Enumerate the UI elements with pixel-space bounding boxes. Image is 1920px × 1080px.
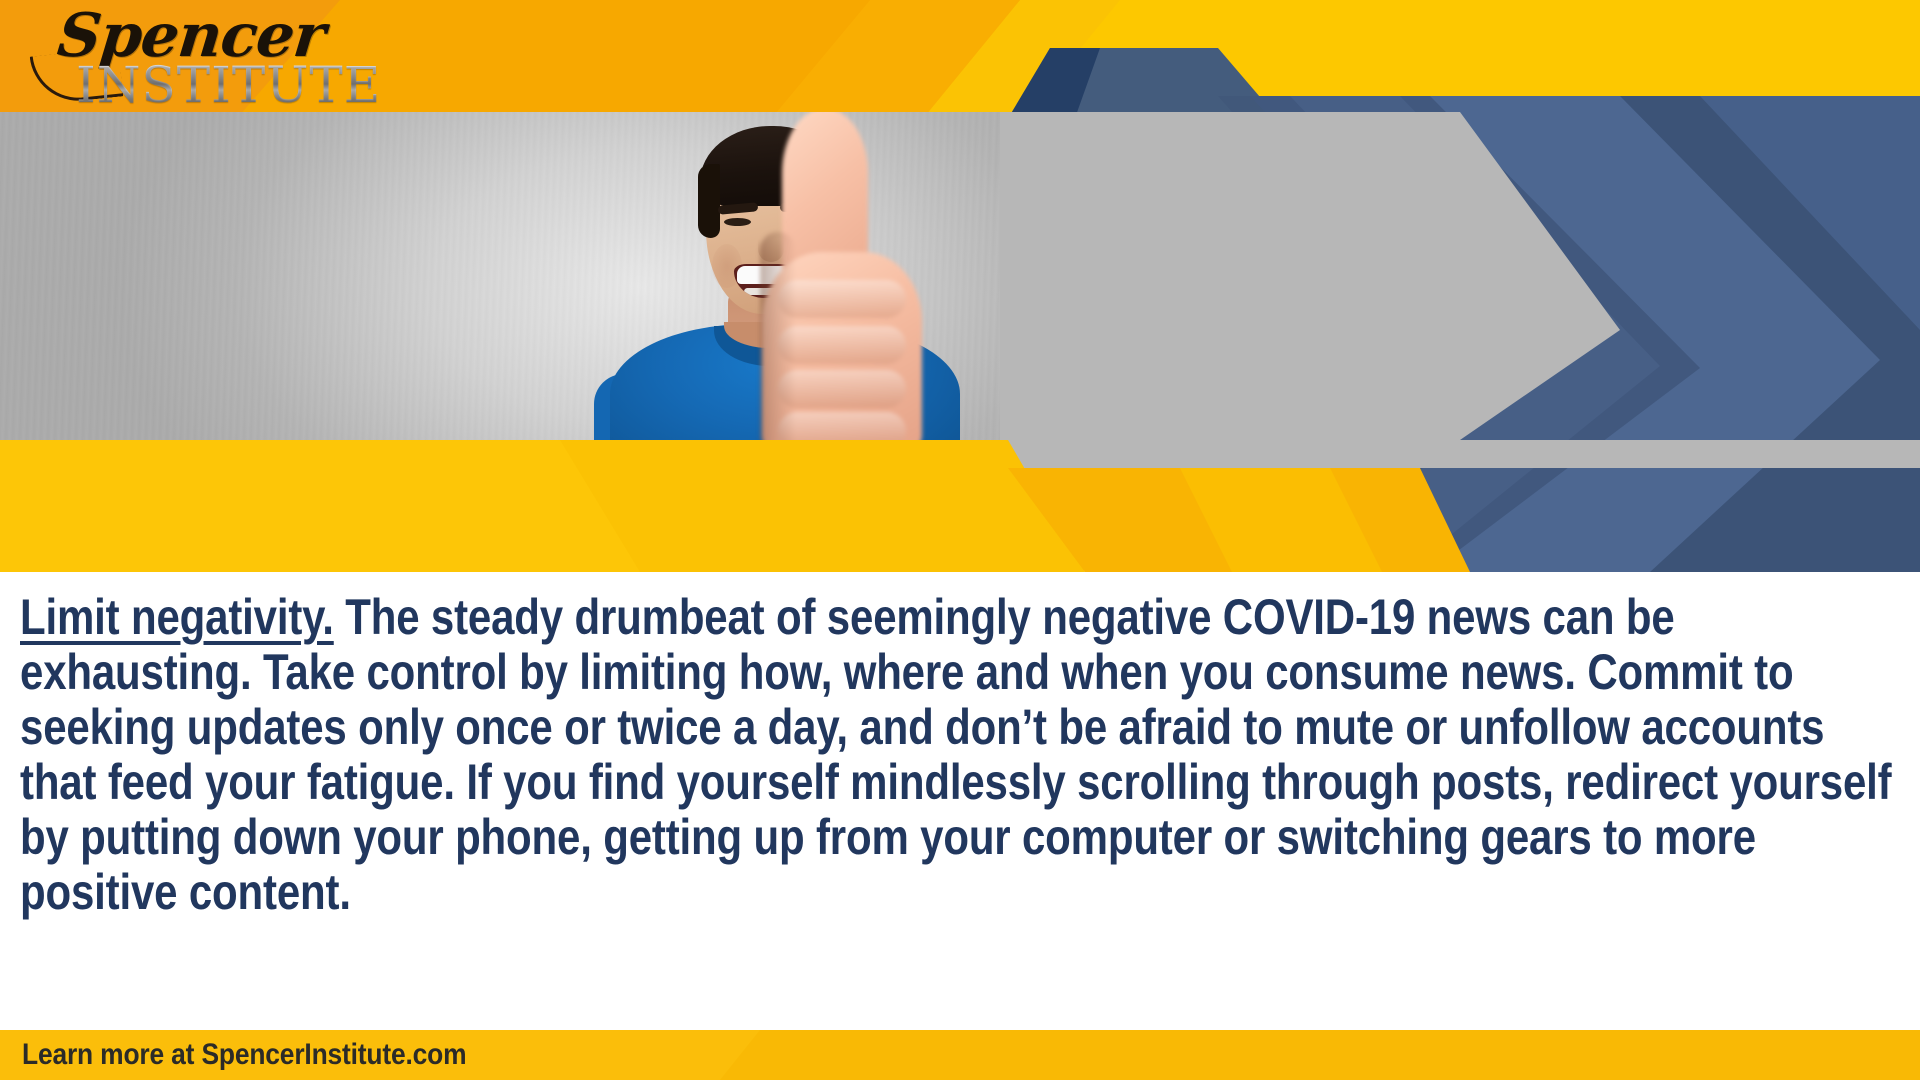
footer-cta-text[interactable]: Learn more at SpencerInstitute.com (22, 1037, 466, 1073)
photo-flat-gray-area (1000, 112, 1920, 447)
thumbs-up-icon (760, 112, 950, 447)
body-paragraph: Limit negativity. The steady drumbeat of… (20, 590, 1892, 920)
knuckle-3 (778, 370, 906, 408)
knuckle-2 (778, 326, 906, 364)
body-lead-phrase: Limit negativity. (20, 589, 334, 645)
logo-serif-text: INSTITUTE (76, 60, 381, 110)
slide-canvas: Spencer INSTITUTE (0, 0, 1920, 1080)
person-eye-left (724, 218, 751, 226)
hand-shadow (760, 232, 796, 447)
knuckle-1 (778, 280, 906, 318)
hero-photo-band (0, 112, 1920, 447)
footer-bar: Learn more at SpencerInstitute.com (0, 1030, 1920, 1080)
brand-logo[interactable]: Spencer INSTITUTE (26, 8, 356, 120)
person-hair-left (698, 164, 720, 238)
lower-yellow-band (0, 440, 1920, 572)
body-copy-area: Limit negativity. The steady drumbeat of… (0, 572, 1920, 1030)
